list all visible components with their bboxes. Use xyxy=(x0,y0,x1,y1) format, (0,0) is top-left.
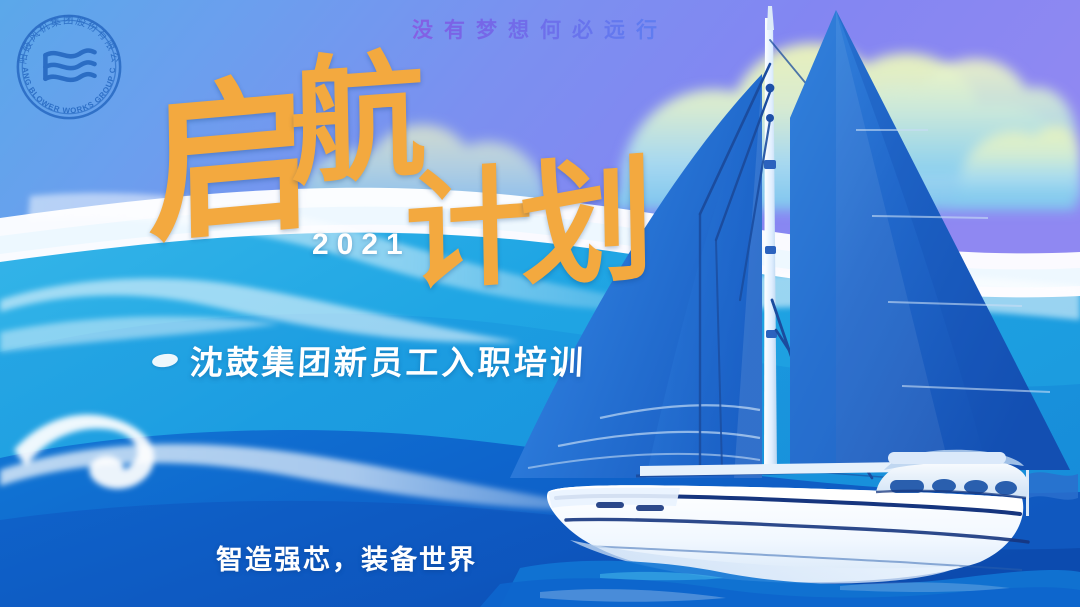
title-char-3: 计 xyxy=(404,161,534,298)
poster-canvas: 沈阳鼓风机集团股份有限公司 SHENYANG BLOWER WORKS GROU… xyxy=(0,0,1080,607)
wave-flag-mark xyxy=(45,51,94,80)
bullet-dot-icon xyxy=(151,352,179,368)
subtitle-text: 沈鼓集团新员工入职培训 xyxy=(189,336,588,384)
title-char-4: 划 xyxy=(519,151,655,295)
subtitle-row: 沈鼓集团新员工入职培训 xyxy=(152,336,586,384)
stern-flag xyxy=(1026,470,1078,516)
bottom-slogan: 智造强芯，装备世界 xyxy=(216,538,477,577)
year-label: 2021 xyxy=(312,228,411,262)
logo-seal-icon: 沈阳鼓风机集团股份有限公司 SHENYANG BLOWER WORKS GROU… xyxy=(10,8,128,126)
main-title: 启 航 计 划 2021 xyxy=(140,46,670,296)
cabin xyxy=(876,450,1029,498)
main-sail xyxy=(790,10,1070,470)
company-logo: 沈阳鼓风机集团股份有限公司 SHENYANG BLOWER WORKS GROU… xyxy=(10,8,128,126)
